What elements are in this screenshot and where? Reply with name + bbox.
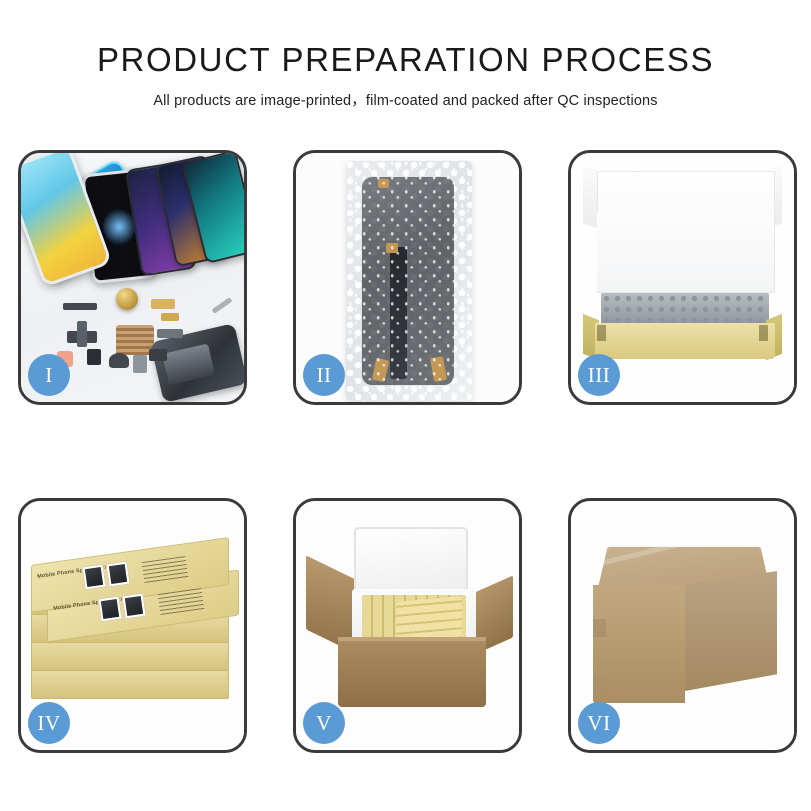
carton-tape-patch-upper xyxy=(593,619,606,637)
step-badge-2: II xyxy=(303,354,345,396)
carton-tape-patch-lower xyxy=(593,677,606,693)
carton-front-face xyxy=(593,585,685,703)
part-bracket xyxy=(77,321,87,347)
kraft-box-front xyxy=(595,323,775,359)
kraft-box-notch-left xyxy=(597,325,606,341)
box-product-photo-1 xyxy=(81,564,106,591)
part-connector-block xyxy=(149,349,167,361)
step-badge-5: V xyxy=(303,702,345,744)
page-subtitle: All products are image-printed，film-coat… xyxy=(0,89,811,110)
step-panel-5: V xyxy=(293,498,522,753)
carton-front-panel xyxy=(338,641,486,707)
foam-box-lid xyxy=(354,527,468,597)
stacked-box-5 xyxy=(31,669,229,699)
bubble-padding-layer xyxy=(601,293,769,327)
step-panel-2: II xyxy=(293,150,522,405)
adhesive-tab-top xyxy=(378,179,389,188)
step-panel-3: III xyxy=(568,150,797,405)
box-product-photo-3 xyxy=(97,596,122,623)
part-speaker-mesh xyxy=(63,303,97,310)
stacked-box-4 xyxy=(31,641,229,671)
flex-cable-strip xyxy=(390,247,407,379)
part-ribbon xyxy=(157,329,183,338)
bubble-wrap-pack xyxy=(346,161,472,401)
part-battery-clip xyxy=(133,355,147,373)
foam-pad xyxy=(597,213,773,291)
coil-component xyxy=(116,288,138,310)
step-panel-4: Mobile Phone Spare Parts Mobile Phone Sp… xyxy=(18,498,247,753)
step-panel-6: VI xyxy=(568,498,797,753)
box-product-photo-4 xyxy=(121,593,146,620)
part-camera-module xyxy=(109,353,129,368)
adhesive-tab-mid xyxy=(386,243,398,253)
part-tweezers xyxy=(212,297,233,314)
step-badge-4: IV xyxy=(28,702,70,744)
step-badge-6: VI xyxy=(578,702,620,744)
kraft-box-notch-right xyxy=(759,325,768,341)
lcd-screen-assembly xyxy=(362,177,454,385)
step-panel-1: I xyxy=(18,150,247,405)
step-badge-1: I xyxy=(28,354,70,396)
box-product-photo-2 xyxy=(105,561,130,588)
box-stack: Mobile Phone Spare Parts Mobile Phone Sp… xyxy=(23,521,244,731)
inner-kraft-boxes-second-row xyxy=(396,596,462,642)
part-gold-flex xyxy=(161,313,179,321)
product-preparation-page: PRODUCT PREPARATION PROCESS All products… xyxy=(0,0,811,811)
part-gold-connector xyxy=(151,299,175,309)
step-badge-3: III xyxy=(578,354,620,396)
page-title: PRODUCT PREPARATION PROCESS xyxy=(0,42,811,78)
part-button xyxy=(87,349,101,365)
process-steps-grid: I II xyxy=(18,150,797,753)
header: PRODUCT PREPARATION PROCESS All products… xyxy=(0,0,811,110)
carton-side-face xyxy=(685,571,777,691)
